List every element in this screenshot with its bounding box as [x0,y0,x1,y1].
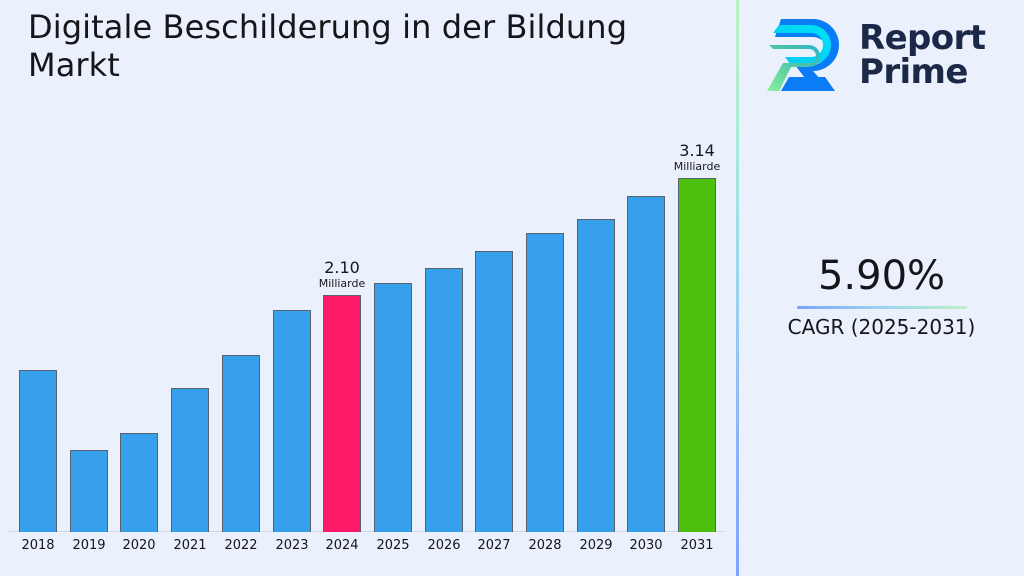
bar-rect-2029 [577,219,615,532]
x-tick-2027: 2027 [469,538,519,553]
bar-value-label-2031: 3.14Milliarde [652,141,742,174]
bar-rect-2025 [374,283,412,532]
cagr-caption: CAGR (2025-2031) [739,315,1024,339]
brand-panel: Report Prime 5.90% CAGR (2025-2031) [739,0,1024,576]
x-tick-2028: 2028 [520,538,570,553]
bar-rect-2030 [627,196,665,532]
x-tick-2025: 2025 [368,538,418,553]
cagr-block: 5.90% CAGR (2025-2031) [739,252,1024,339]
brand-logo: Report Prime [765,12,1010,98]
bar-rect-2024 [323,295,361,532]
cagr-divider-rule [797,306,967,309]
bar-unit-2031: Milliarde [652,160,742,174]
cagr-value: 5.90% [739,252,1024,300]
x-tick-2020: 2020 [114,538,164,553]
bar-rect-2020 [120,433,158,532]
x-tick-2021: 2021 [165,538,215,553]
x-tick-2018: 2018 [13,538,63,553]
chart-panel: Digitale Beschilderung in der Bildung Ma… [0,0,737,576]
bar-rect-2019 [70,450,108,532]
bar-rect-2026 [425,268,463,532]
bar-rect-2022 [222,355,260,532]
x-tick-2026: 2026 [419,538,469,553]
bar-rect-2028 [526,233,564,532]
report-prime-r-logo-icon [765,15,849,95]
bar-rect-2021 [171,388,209,532]
infographic-root: Digitale Beschilderung in der Bildung Ma… [0,0,1024,576]
x-tick-2019: 2019 [64,538,114,553]
x-tick-2031: 2031 [672,538,722,553]
x-tick-2024: 2024 [317,538,367,553]
bar-rect-2018 [19,370,57,532]
brand-name-line1: Report [859,21,985,55]
brand-name: Report Prime [859,21,985,89]
bar-rect-2031 [678,178,716,532]
x-tick-2029: 2029 [571,538,621,553]
bar-rect-2027 [475,251,513,532]
x-tick-2023: 2023 [267,538,317,553]
x-axis-line [8,531,724,532]
bar-value-2031: 3.14 [652,141,742,160]
bar-rect-2023 [273,310,311,532]
x-tick-2022: 2022 [216,538,266,553]
brand-name-line2: Prime [859,55,985,89]
bar-value-2024: 2.10 [297,258,387,277]
x-tick-2030: 2030 [621,538,671,553]
bar-chart: 2.10Milliarde3.14Milliarde 2018201920202… [0,0,737,576]
